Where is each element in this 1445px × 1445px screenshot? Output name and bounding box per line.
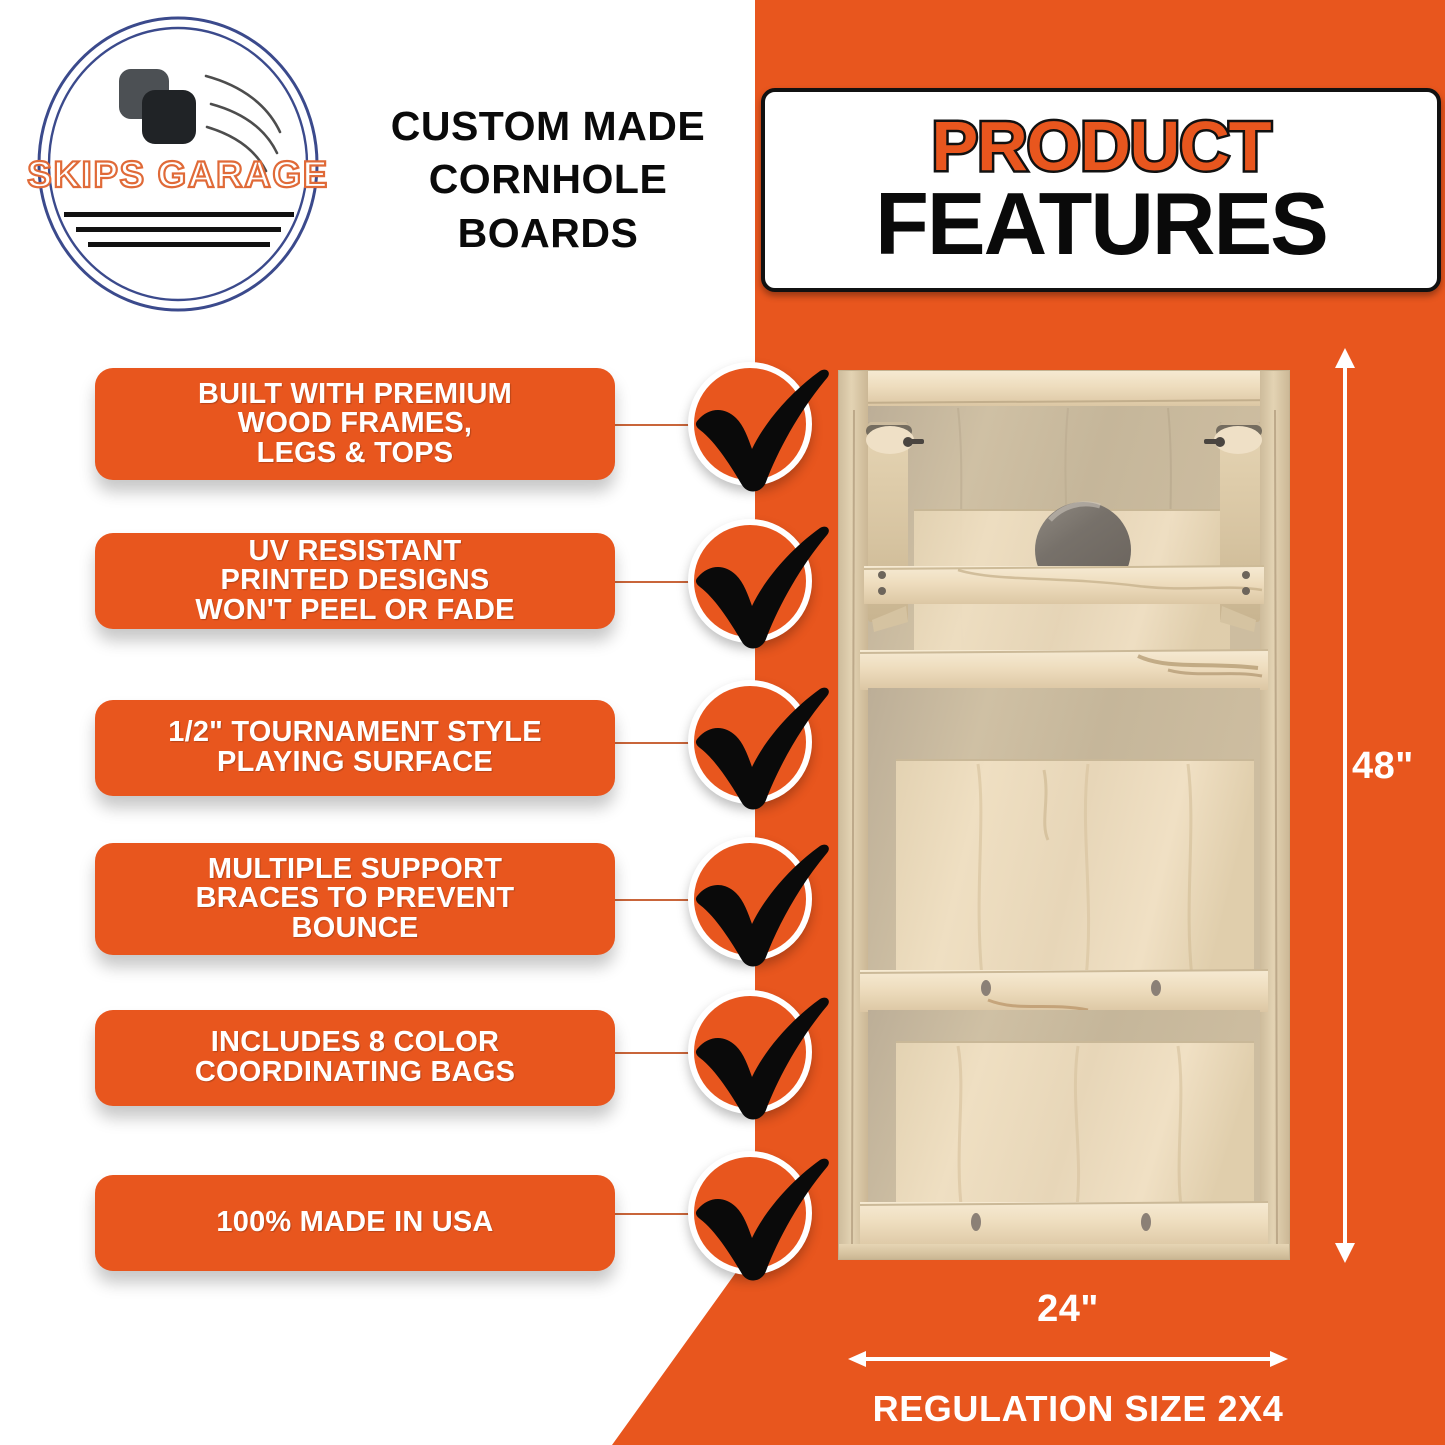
banner-line-features: FEATURES [875,182,1327,266]
feature-label-made-in-usa: 100% MADE IN USA [216,1208,493,1238]
headline-line-3: BOARDS [352,207,744,260]
feature-row-playing-surface: 1/2" TOURNAMENT STYLEPLAYING SURFACE [0,700,860,850]
height-dimension-arrow [1330,348,1360,1263]
product-photo [838,370,1290,1260]
checkmark-icon [684,672,834,822]
banner-line-product: PRODUCT [931,113,1270,180]
width-dimension-arrow [848,1348,1288,1370]
feature-label-bags-included: INCLUDES 8 COLORCOORDINATING BAGS [195,1028,515,1087]
feature-pill-playing-surface[interactable]: 1/2" TOURNAMENT STYLEPLAYING SURFACE [95,700,615,796]
feature-check-badge-bags-included [688,990,812,1114]
feature-check-badge-premium-wood [688,362,812,486]
headline-line-1: CUSTOM MADE [352,100,744,153]
page-title: CUSTOM MADE CORNHOLE BOARDS [352,100,744,260]
feature-row-made-in-usa: 100% MADE IN USA [0,1175,860,1325]
regulation-size-label: REGULATION SIZE 2X4 [828,1388,1328,1430]
feature-pill-uv-resistant[interactable]: UV RESISTANTPRINTED DESIGNSWON'T PEEL OR… [95,533,615,629]
cornhole-board-underside-illustration [838,370,1290,1260]
feature-pill-support-braces[interactable]: MULTIPLE SUPPORTBRACES TO PREVENTBOUNCE [95,843,615,955]
feature-pill-premium-wood[interactable]: BUILT WITH PREMIUMWOOD FRAMES,LEGS & TOP… [95,368,615,480]
checkmark-icon [684,354,834,504]
logo-rule-2 [76,227,281,232]
feature-label-premium-wood: BUILT WITH PREMIUMWOOD FRAMES,LEGS & TOP… [198,380,512,469]
feature-pill-bags-included[interactable]: INCLUDES 8 COLORCOORDINATING BAGS [95,1010,615,1106]
feature-pill-made-in-usa[interactable]: 100% MADE IN USA [95,1175,615,1271]
checkmark-icon [684,511,834,661]
feature-check-badge-support-braces [688,837,812,961]
logo-rule-3 [88,242,270,247]
infographic-canvas: SKIPS GARAGE CUSTOM MADE CORNHOLE BOARDS… [0,0,1445,1445]
width-dimension-label: 24" [848,1288,1288,1331]
checkmark-icon [684,982,834,1132]
feature-label-uv-resistant: UV RESISTANTPRINTED DESIGNSWON'T PEEL OR… [195,537,514,626]
feature-label-support-braces: MULTIPLE SUPPORTBRACES TO PREVENTBOUNCE [196,855,515,944]
feature-row-premium-wood: BUILT WITH PREMIUMWOOD FRAMES,LEGS & TOP… [0,368,860,518]
logo-wordmark: SKIPS GARAGE [18,154,338,196]
logo-rule-1 [64,212,294,217]
feature-check-badge-uv-resistant [688,519,812,643]
brand-logo: SKIPS GARAGE [18,14,338,314]
headline-line-2: CORNHOLE [352,153,744,206]
product-features-banner: PRODUCT FEATURES [761,88,1441,292]
height-dimension-label: 48" [1352,745,1414,788]
feature-check-badge-playing-surface [688,680,812,804]
feature-check-badge-made-in-usa [688,1151,812,1275]
checkmark-icon [684,1143,834,1293]
feature-row-support-braces: MULTIPLE SUPPORTBRACES TO PREVENTBOUNCE [0,843,860,993]
checkmark-icon [684,829,834,979]
feature-row-bags-included: INCLUDES 8 COLORCOORDINATING BAGS [0,1010,860,1160]
feature-label-playing-surface: 1/2" TOURNAMENT STYLEPLAYING SURFACE [168,718,542,777]
feature-row-uv-resistant: UV RESISTANTPRINTED DESIGNSWON'T PEEL OR… [0,533,860,683]
